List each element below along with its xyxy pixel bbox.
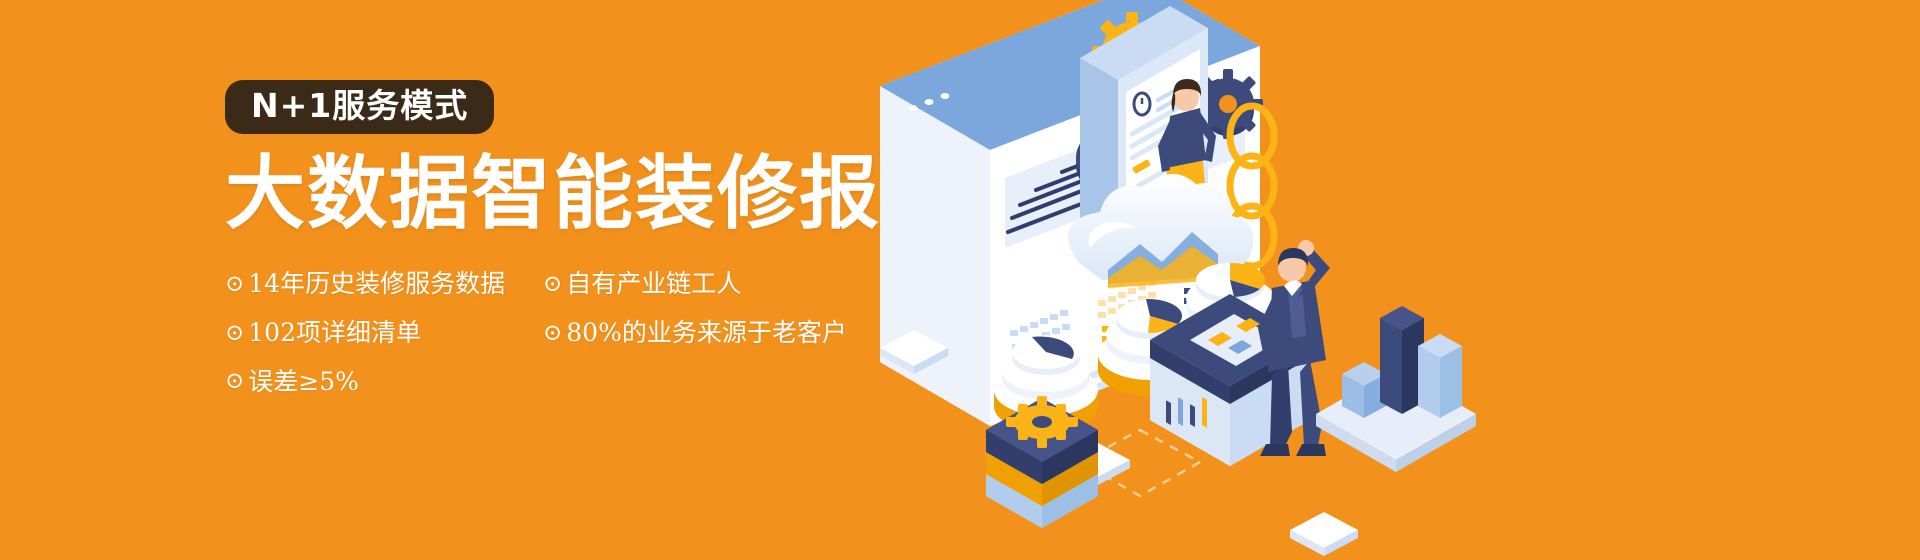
promo-banner: N+1服务模式 大数据智能装修报价 ⊙ 14年历史装修服务数据 ⊙ 102项详细… bbox=[0, 0, 1920, 560]
list-item: ⊙ 80%的业务来源于老客户 bbox=[543, 319, 863, 348]
isometric-bigdata-illustration bbox=[840, 0, 1920, 560]
banner-text-block: N+1服务模式 大数据智能装修报价 ⊙ 14年历史装修服务数据 ⊙ 102项详细… bbox=[225, 80, 945, 396]
bullet-dot-icon: ⊙ bbox=[225, 370, 244, 393]
list-item-label: 自有产业链工人 bbox=[566, 270, 741, 299]
list-item: ⊙ 自有产业链工人 bbox=[543, 270, 863, 299]
bullet-dot-icon: ⊙ bbox=[225, 322, 244, 345]
list-item-label: 误差≥5% bbox=[248, 368, 359, 397]
list-item-label: 80%的业务来源于老客户 bbox=[566, 319, 847, 348]
banner-headline: 大数据智能装修报价 bbox=[225, 152, 945, 236]
bar-chart-blocks bbox=[1316, 306, 1476, 472]
feature-list: ⊙ 14年历史装修服务数据 ⊙ 102项详细清单 ⊙ 误差≥5% ⊙ 自有产业链… bbox=[225, 270, 885, 396]
service-mode-badge: N+1服务模式 bbox=[225, 80, 494, 134]
list-item-label: 14年历史装修服务数据 bbox=[248, 270, 505, 299]
list-item: ⊙ 14年历史装修服务数据 bbox=[225, 270, 543, 299]
list-item: ⊙ 误差≥5% bbox=[225, 368, 543, 397]
list-item-label: 102项详细清单 bbox=[248, 319, 421, 348]
bullet-dot-icon: ⊙ bbox=[543, 322, 562, 345]
bullet-dot-icon: ⊙ bbox=[225, 273, 244, 296]
list-item: ⊙ 102项详细清单 bbox=[225, 319, 543, 348]
bullet-dot-icon: ⊙ bbox=[543, 273, 562, 296]
